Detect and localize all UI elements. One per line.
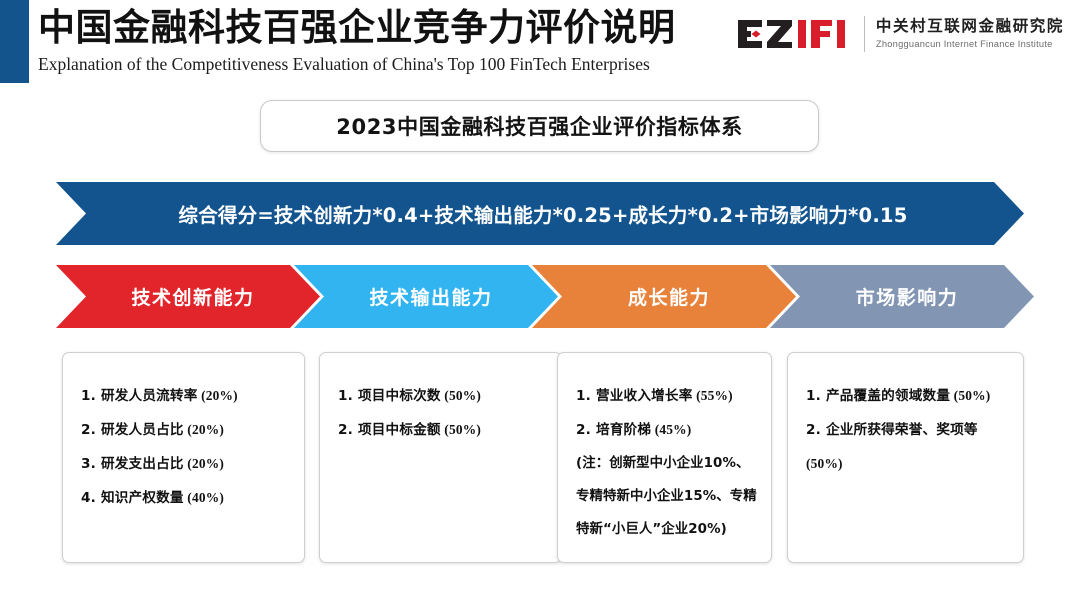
card-item: 1. 产品覆盖的领域数量 (50%) xyxy=(806,379,1009,413)
card-item-weight: (45%) xyxy=(651,422,691,437)
card-note: (注：创新型中小企业10%、专精特新中小企业15%、专精特新“小巨人”企业20%… xyxy=(576,447,757,546)
card-item-index: 3. xyxy=(81,456,101,472)
formula-banner: 综合得分=技术创新力*0.4+技术输出能力*0.25+成长力*0.2+市场影响力… xyxy=(56,182,1024,245)
card-item: 2. 项目中标金额 (50%) xyxy=(338,413,547,447)
header-accent-bar xyxy=(0,0,29,83)
section-title: 2023中国金融科技百强企业评价指标体系 xyxy=(336,111,742,141)
card-market-influence: 1. 产品覆盖的领域数量 (50%)2. 企业所获得荣誉、奖项等 (50%) xyxy=(787,352,1024,563)
card-growth: 1. 营业收入增长率 (55%)2. 培育阶梯 (45%)(注：创新型中小企业1… xyxy=(557,352,772,563)
formula-text: 综合得分=技术创新力*0.4+技术输出能力*0.25+成长力*0.2+市场影响力… xyxy=(56,182,1024,245)
card-item-index: 1. xyxy=(576,388,596,404)
card-item-index: 2. xyxy=(81,422,101,438)
card-item-label: 研发人员流转率 xyxy=(101,388,198,404)
card-item-index: 2. xyxy=(806,422,826,438)
card-item: 1. 营业收入增长率 (55%) xyxy=(576,379,757,413)
institute-logo: 中关村互联网金融研究院 Zhongguancun Internet Financ… xyxy=(736,10,1064,58)
card-item-weight: (40%) xyxy=(184,490,224,505)
card-item-weight: (20%) xyxy=(184,422,224,437)
chevron-4[interactable]: 市场影响力 xyxy=(770,265,1034,328)
card-item: 4. 知识产权数量 (40%) xyxy=(81,481,290,515)
card-item-label: 培育阶梯 xyxy=(596,422,651,438)
card-item-label: 企业所获得荣誉、奖项等 xyxy=(826,422,978,438)
card-item: 1. 项目中标次数 (50%) xyxy=(338,379,547,413)
card-tech-output: 1. 项目中标次数 (50%)2. 项目中标金额 (50%) xyxy=(319,352,562,563)
czifi-logo-icon xyxy=(736,16,852,52)
card-item: 2. 企业所获得荣誉、奖项等 (50%) xyxy=(806,413,1009,481)
card-item-label: 研发人员占比 xyxy=(101,422,184,438)
chevron-3[interactable]: 成长能力 xyxy=(532,265,796,328)
chevron-2[interactable]: 技术输出能力 xyxy=(294,265,558,328)
card-item: 1. 研发人员流转率 (20%) xyxy=(81,379,290,413)
title-block: 中国金融科技百强企业竞争力评价说明 Explanation of the Com… xyxy=(38,4,676,76)
card-item-index: 1. xyxy=(806,388,826,404)
card-item-index: 1. xyxy=(338,388,358,404)
card-item-label: 产品覆盖的领域数量 xyxy=(826,388,950,404)
capability-chevron-row: 技术创新能力技术输出能力成长能力市场影响力 xyxy=(56,265,1024,328)
chevron-label: 技术输出能力 xyxy=(294,265,558,328)
card-item-label: 营业收入增长率 xyxy=(596,388,693,404)
card-item-weight: (20%) xyxy=(184,456,224,471)
card-item-index: 1. xyxy=(81,388,101,404)
logo-name-cn: 中关村互联网金融研究院 xyxy=(876,17,1064,36)
card-item-index: 2. xyxy=(338,422,358,438)
card-item-index: 2. xyxy=(576,422,596,438)
page-subtitle: Explanation of the Competitiveness Evalu… xyxy=(38,52,676,76)
card-item-label: 知识产权数量 xyxy=(101,490,184,506)
card-item-weight: (20%) xyxy=(198,388,238,403)
card-item-label: 项目中标次数 xyxy=(358,388,441,404)
card-item-index: 4. xyxy=(81,490,101,506)
card-item-label: 项目中标金额 xyxy=(358,422,441,438)
card-item-weight: (55%) xyxy=(693,388,733,403)
page-title: 中国金融科技百强企业竞争力评价说明 xyxy=(38,4,676,50)
chevron-label: 技术创新能力 xyxy=(56,265,320,328)
chevron-label: 市场影响力 xyxy=(770,265,1034,328)
card-item: 2. 培育阶梯 (45%) xyxy=(576,413,757,447)
card-item-weight: (50%) xyxy=(806,456,843,471)
indicator-cards: 1. 研发人员流转率 (20%)2. 研发人员占比 (20%)3. 研发支出占比… xyxy=(0,352,1080,567)
card-item: 3. 研发支出占比 (20%) xyxy=(81,447,290,481)
card-tech-innovation: 1. 研发人员流转率 (20%)2. 研发人员占比 (20%)3. 研发支出占比… xyxy=(62,352,305,563)
logo-divider xyxy=(864,16,865,52)
chevron-1[interactable]: 技术创新能力 xyxy=(56,265,320,328)
card-item-weight: (50%) xyxy=(950,388,990,403)
page-header: 中国金融科技百强企业竞争力评价说明 Explanation of the Com… xyxy=(0,0,1080,92)
card-item-label: 研发支出占比 xyxy=(101,456,184,472)
card-item-weight: (50%) xyxy=(441,388,481,403)
card-item-weight: (50%) xyxy=(441,422,481,437)
section-title-box: 2023中国金融科技百强企业评价指标体系 xyxy=(260,100,819,152)
card-item: 2. 研发人员占比 (20%) xyxy=(81,413,290,447)
chevron-label: 成长能力 xyxy=(532,265,796,328)
logo-text: 中关村互联网金融研究院 Zhongguancun Internet Financ… xyxy=(876,17,1064,51)
logo-name-en: Zhongguancun Internet Finance Institute xyxy=(876,38,1064,51)
